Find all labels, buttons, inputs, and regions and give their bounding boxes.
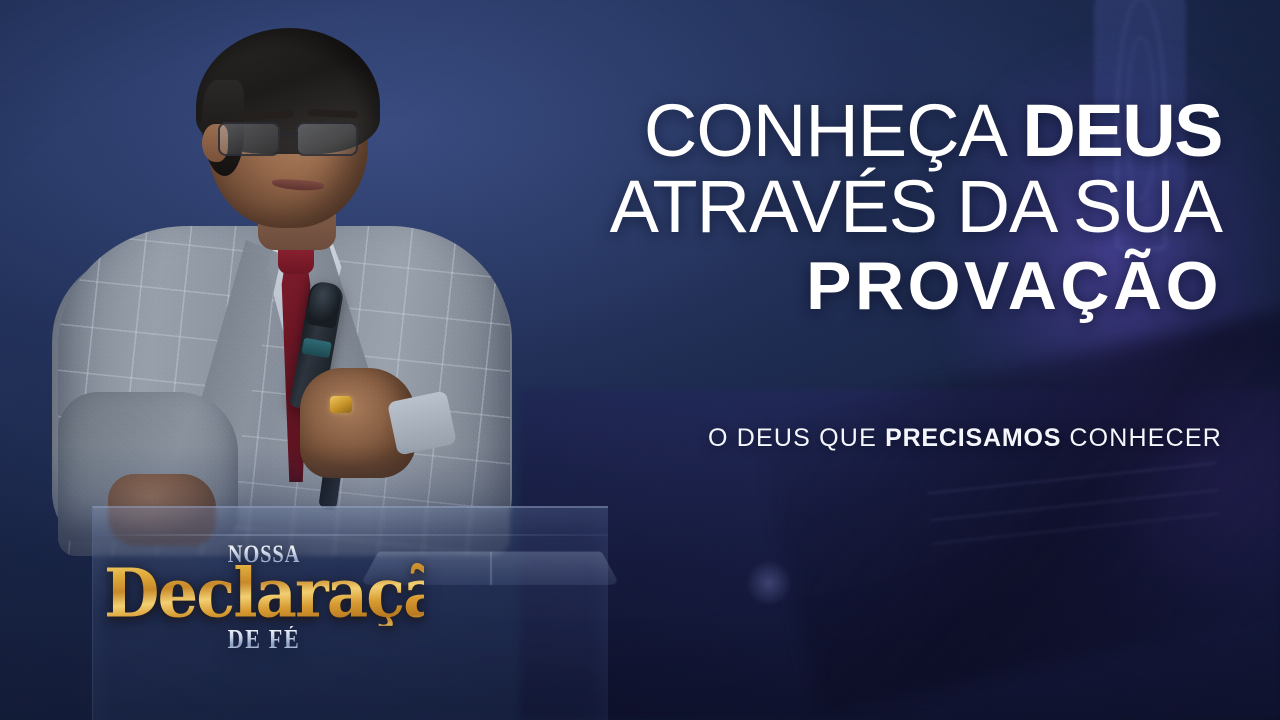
logo-main-word: Declaração [104,561,424,626]
eyeglass-lens-right [296,122,358,156]
headline-line-1: CONHEÇA DEUS [402,96,1222,166]
eyeglass-lens-left [218,122,280,156]
headline-line-3: PROVAÇÃO [402,255,1222,319]
background-light-spot [746,560,792,606]
headline-line-1-bold: DEUS [1022,89,1222,172]
subtitle-prefix: O DEUS QUE [708,424,885,452]
speaker-eyeglasses [212,122,368,158]
subtitle-bold: PRECISAMOS [885,424,1061,452]
subtitle-line: O DEUS QUE PRECISAMOS CONHECER [402,424,1222,453]
headline-line-1-regular: CONHEÇA [644,89,1023,172]
subtitle-suffix: CONHECER [1061,424,1222,452]
brand-logo: NOSSA Declaração DE FÉ [104,542,424,653]
thumbnail-canvas: CONHEÇA DEUS ATRAVÉS DA SUA PROVAÇÃO O D… [0,0,1280,720]
headline-block: CONHEÇA DEUS ATRAVÉS DA SUA PROVAÇÃO [402,96,1222,319]
logo-bottom-word: DE FÉ [133,626,395,653]
speaker-gold-ring [330,396,352,413]
headline-line-2: ATRAVÉS DA SUA [402,172,1222,242]
eyeglass-bridge [280,132,298,135]
